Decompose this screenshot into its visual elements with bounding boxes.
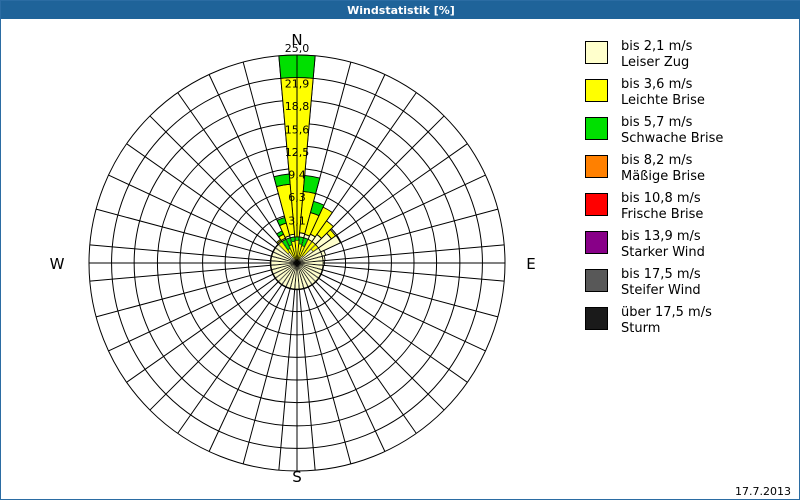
grid-spoke	[308, 287, 385, 452]
legend-label: über 17,5 m/sSturm	[621, 305, 712, 336]
window-title: Windstatistik [%]	[347, 4, 455, 17]
legend-label: bis 13,9 m/sStarker Wind	[621, 229, 705, 260]
legend-speed-range: über 17,5 m/s	[621, 305, 712, 321]
radial-tick-label: 21,9	[285, 78, 310, 91]
radial-tick-label: 9,4	[288, 169, 306, 182]
radial-tick-label: 18,8	[285, 100, 310, 113]
wind-petal-tail	[291, 237, 295, 242]
grid-spoke	[321, 175, 486, 252]
grid-spoke	[209, 74, 286, 239]
legend-color-swatch	[585, 117, 608, 140]
legend-class-name: Starker Wind	[621, 245, 705, 261]
grid-spoke	[96, 270, 272, 317]
legend-speed-range: bis 10,8 m/s	[621, 191, 703, 207]
legend-item[interactable]: über 17,5 m/sSturm	[585, 305, 795, 336]
legend-color-swatch	[585, 269, 608, 292]
legend-class-name: Sturm	[621, 321, 712, 337]
legend-color-swatch	[585, 193, 608, 216]
legend-item[interactable]: bis 5,7 m/sSchwache Brise	[585, 115, 795, 146]
radial-tick-label: 3,1	[288, 214, 306, 227]
legend-item[interactable]: bis 13,9 m/sStarker Wind	[585, 229, 795, 260]
radial-tick-label: 12,5	[285, 146, 310, 159]
legend-class-name: Leichte Brise	[621, 93, 705, 109]
legend-item[interactable]: bis 3,6 m/sLeichte Brise	[585, 77, 795, 108]
legend-item[interactable]: bis 17,5 m/sSteifer Wind	[585, 267, 795, 298]
grid-spoke	[150, 116, 279, 245]
grid-spoke	[322, 209, 498, 256]
legend-label: bis 17,5 m/sSteifer Wind	[621, 267, 701, 298]
radial-tick-label: 6,3	[288, 191, 306, 204]
grid-spoke	[315, 281, 444, 410]
legend-speed-range: bis 2,1 m/s	[621, 39, 692, 55]
wind-statistics-window: Windstatistik [%] 3,16,39,412,515,618,82…	[0, 0, 800, 500]
legend-label: bis 10,8 m/sFrische Brise	[621, 191, 703, 222]
direction-label-west: W	[50, 255, 65, 273]
direction-label-east: E	[526, 255, 535, 273]
legend-class-name: Schwache Brise	[621, 131, 723, 147]
legend-color-swatch	[585, 41, 608, 64]
wind-petal-tail	[295, 237, 299, 240]
legend-class-name: Leiser Zug	[621, 55, 692, 71]
grid-spoke	[108, 175, 273, 252]
legend-speed-range: bis 17,5 m/s	[621, 267, 701, 283]
direction-label-south: S	[292, 468, 302, 486]
legend-speed-range: bis 5,7 m/s	[621, 115, 723, 131]
direction-label-north: N	[291, 31, 302, 49]
legend-color-swatch	[585, 155, 608, 178]
legend-speed-range: bis 3,6 m/s	[621, 77, 705, 93]
grid-spoke	[322, 270, 498, 317]
grid-spoke	[150, 281, 279, 410]
date-stamp: 17.7.2013	[735, 485, 791, 498]
legend-class-name: Mäßige Brise	[621, 169, 705, 185]
legend-speed-range: bis 8,2 m/s	[621, 153, 705, 169]
grid-spoke	[243, 288, 290, 464]
grid-spoke	[315, 116, 444, 245]
grid-spoke	[209, 287, 286, 452]
legend-speed-range: bis 13,9 m/s	[621, 229, 705, 245]
grid-spoke	[321, 274, 486, 351]
legend-label: bis 5,7 m/sSchwache Brise	[621, 115, 723, 146]
legend-color-swatch	[585, 307, 608, 330]
grid-spoke	[108, 274, 273, 351]
grid-spoke	[96, 209, 272, 256]
legend-class-name: Steifer Wind	[621, 283, 701, 299]
radial-tick-label: 15,6	[285, 123, 310, 136]
legend: bis 2,1 m/sLeiser Zugbis 3,6 m/sLeichte …	[585, 39, 795, 343]
legend-class-name: Frische Brise	[621, 207, 703, 223]
legend-label: bis 8,2 m/sMäßige Brise	[621, 153, 705, 184]
legend-item[interactable]: bis 2,1 m/sLeiser Zug	[585, 39, 795, 70]
window-title-bar: Windstatistik [%]	[1, 1, 800, 19]
legend-item[interactable]: bis 8,2 m/sMäßige Brise	[585, 153, 795, 184]
legend-item[interactable]: bis 10,8 m/sFrische Brise	[585, 191, 795, 222]
grid-spoke	[304, 288, 351, 464]
legend-color-swatch	[585, 79, 608, 102]
legend-label: bis 3,6 m/sLeichte Brise	[621, 77, 705, 108]
legend-label: bis 2,1 m/sLeiser Zug	[621, 39, 692, 70]
legend-color-swatch	[585, 231, 608, 254]
center-hub	[271, 237, 323, 289]
